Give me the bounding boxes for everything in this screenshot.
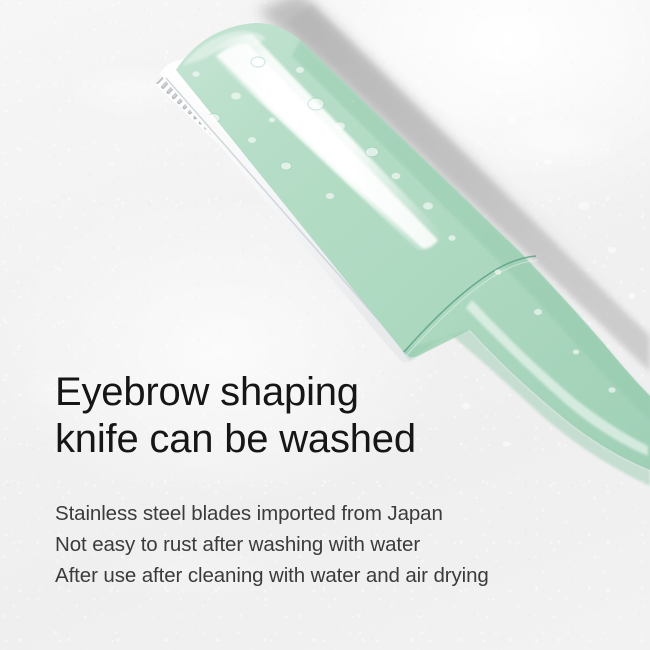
feature-list: Stainless steel blades imported from Jap…	[55, 498, 615, 591]
page-title: Eyebrow shaping knife can be washed	[55, 369, 615, 463]
product-promo-card: Eyebrow shaping knife can be washed Stai…	[0, 0, 650, 650]
list-item: Not easy to rust after washing with wate…	[55, 529, 615, 560]
list-item: After use after cleaning with water and …	[55, 560, 615, 591]
headline-block: Eyebrow shaping knife can be washed	[55, 369, 615, 463]
list-item: Stainless steel blades imported from Jap…	[55, 498, 615, 529]
